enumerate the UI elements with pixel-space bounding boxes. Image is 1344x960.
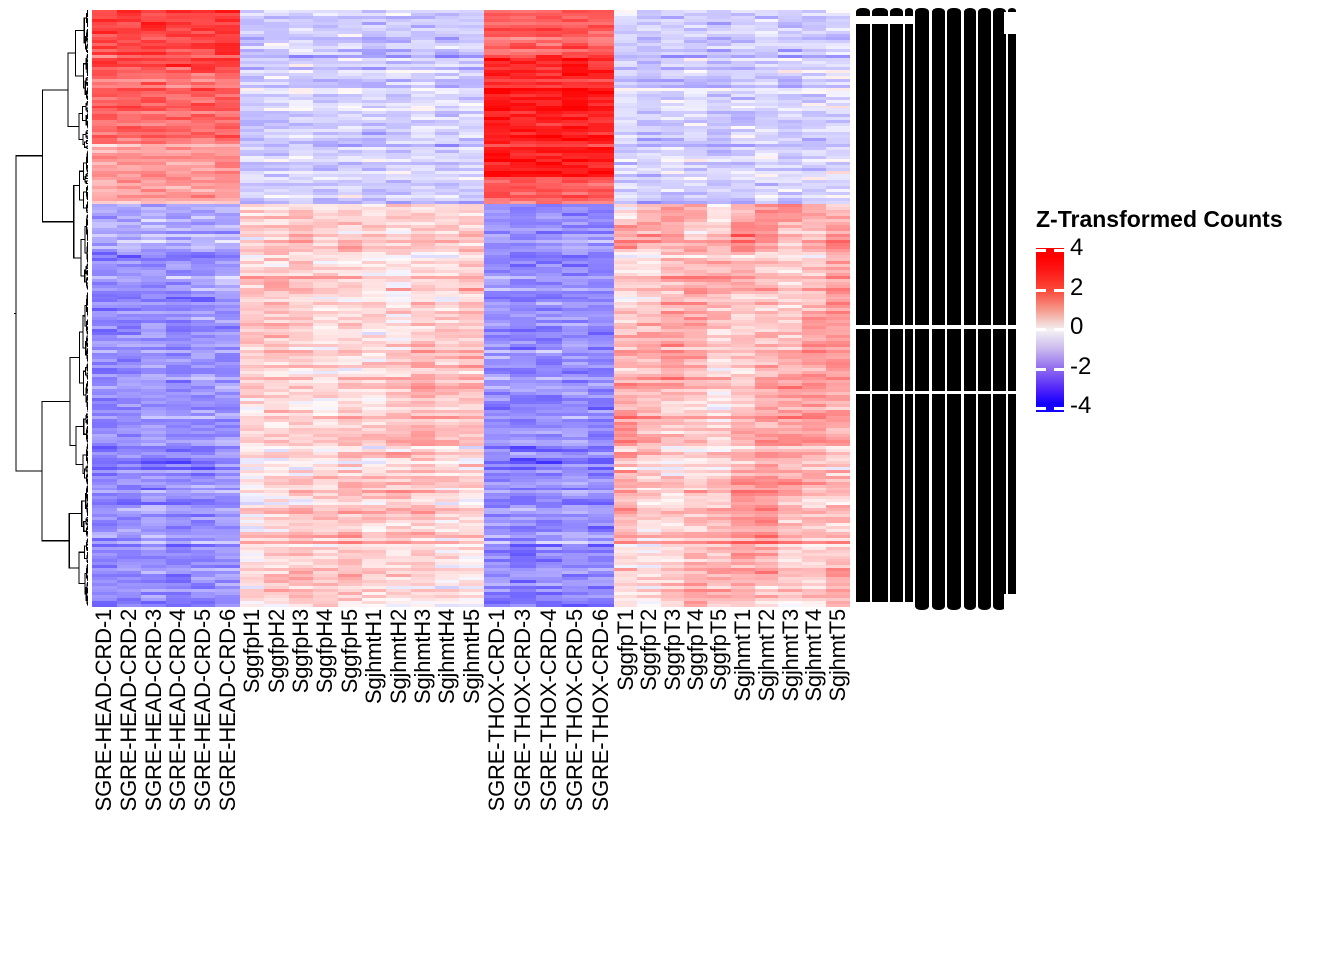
dendrogram-branches [14,11,88,605]
heatmap-matrix [92,10,850,607]
row-dendrogram-svg [14,8,88,608]
heatmap-figure: SGRE-HEAD-CRD-1SGRE-HEAD-CRD-2SGRE-HEAD-… [0,0,1344,960]
row-dendrogram [14,8,88,608]
